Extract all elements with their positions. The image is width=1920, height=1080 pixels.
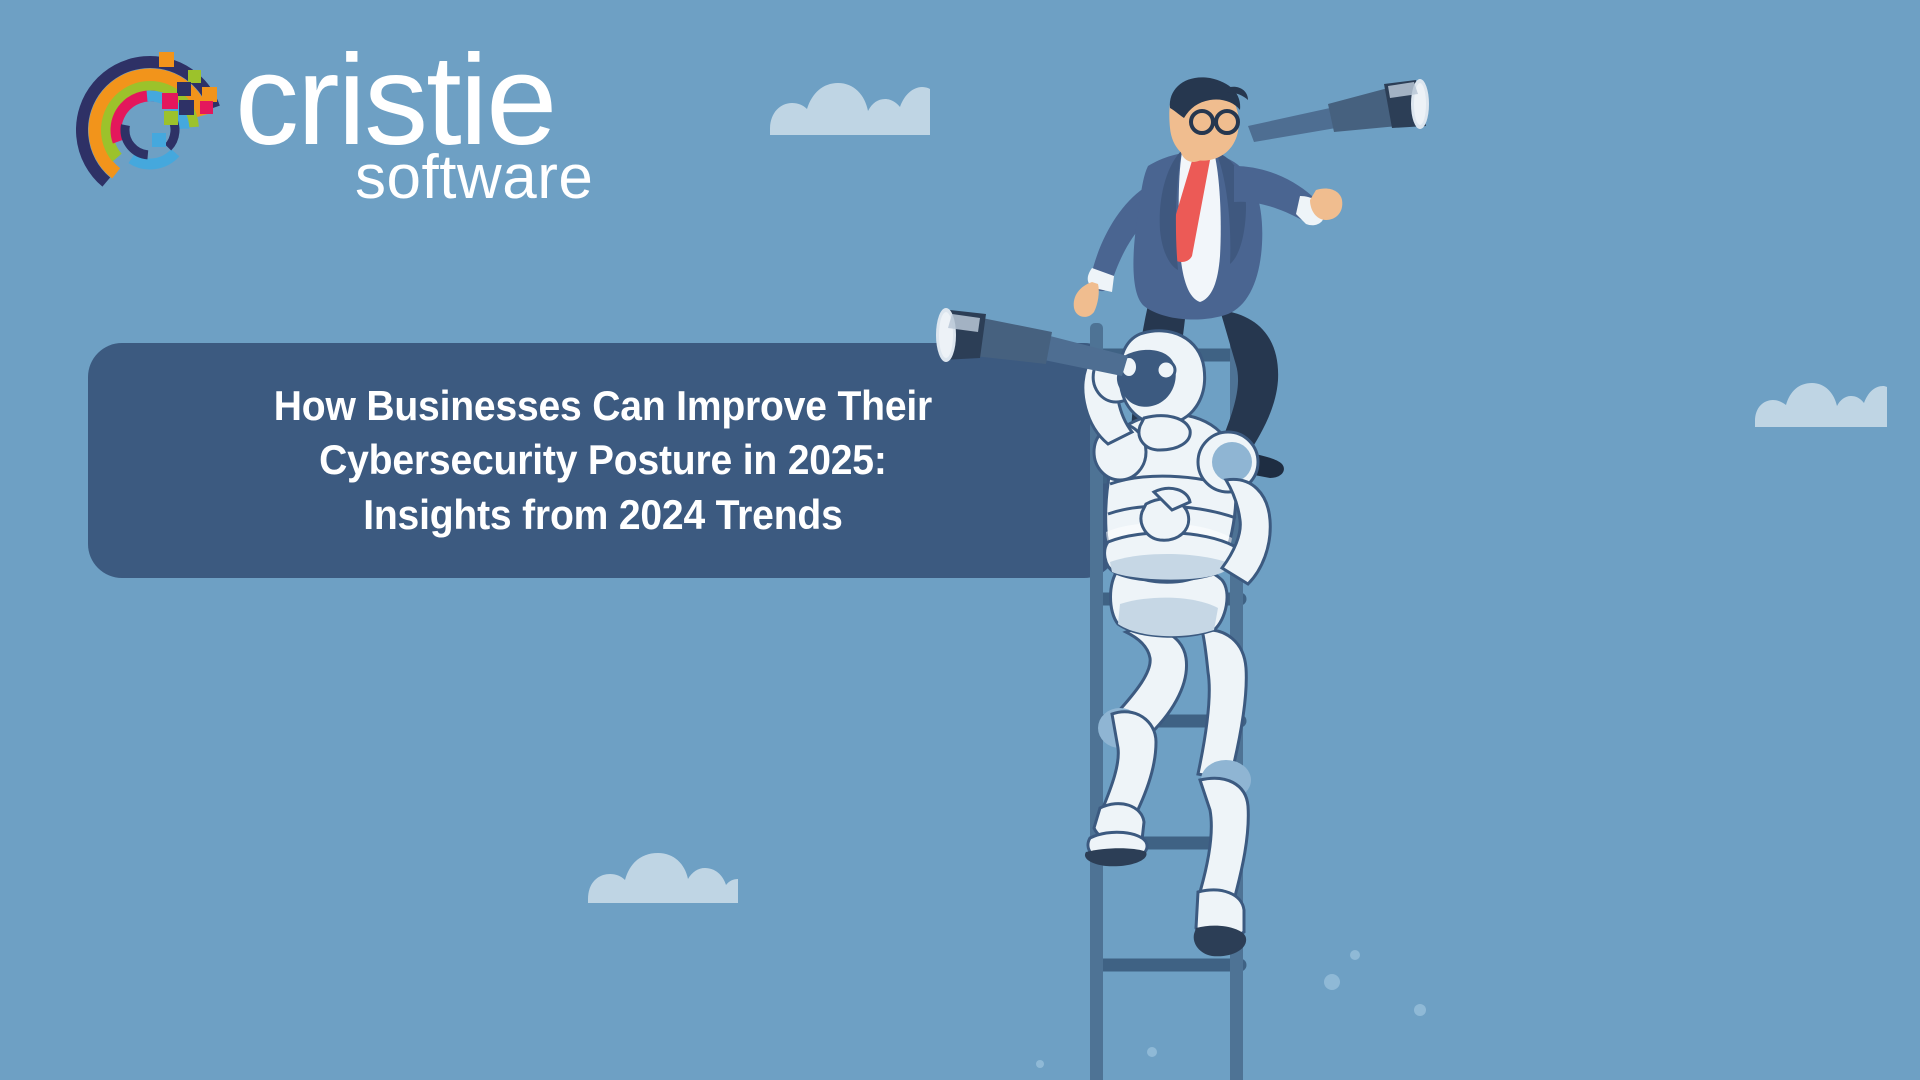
cloud-shape-icon [1755, 383, 1887, 427]
brand-tagline-text: software [355, 143, 593, 211]
banner-canvas: cristie software How Businesses Can Impr… [0, 0, 1920, 1080]
cloud-shape-icon [588, 853, 738, 903]
cristie-circle-mark-icon [60, 22, 245, 207]
cloud-top-left [770, 83, 930, 135]
brand-wordmark: cristie software [235, 36, 685, 211]
hero-illustration [1130, 80, 1690, 1080]
page-title: How Businesses Can Improve Their Cyberse… [237, 379, 970, 542]
telescope-businessman-icon [1248, 79, 1429, 142]
cloud-mid-right [1755, 383, 1887, 427]
cloud-shape-icon [770, 83, 930, 135]
title-banner: How Businesses Can Improve Their Cyberse… [88, 343, 1118, 578]
cloud-bottom-left [588, 853, 738, 903]
wordmark-text-icon: cristie software [235, 36, 685, 211]
brand-logo[interactable]: cristie software [60, 22, 680, 212]
